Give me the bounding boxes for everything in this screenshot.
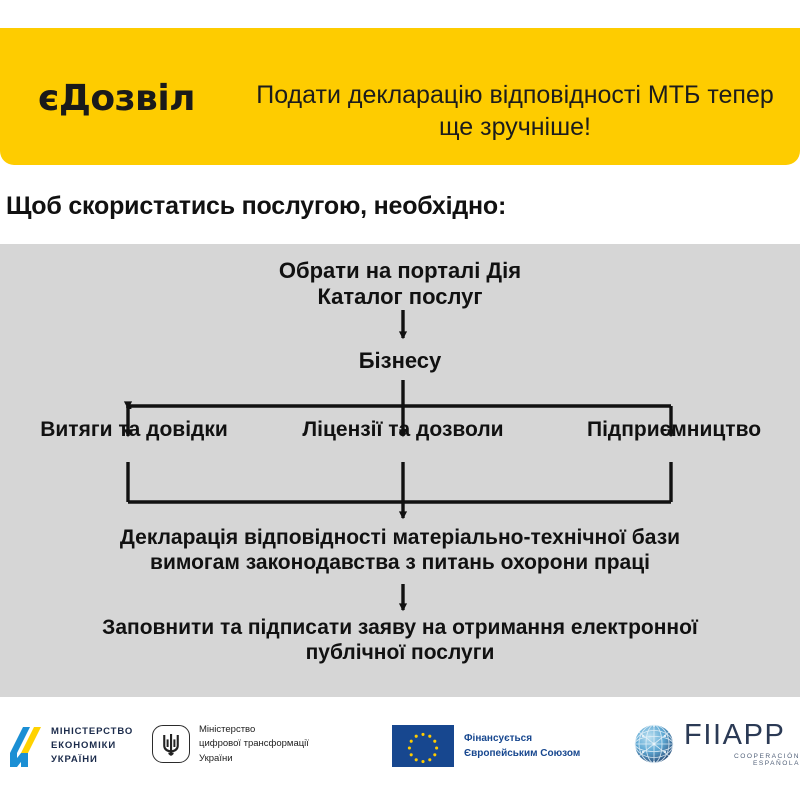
logo-fiiapp: FIIAPP COOPERACIÓN ESPAÑOLA xyxy=(632,721,800,767)
ministry-of-digital-transformation-label: Міністерство цифрової трансформації Укра… xyxy=(199,723,309,766)
globe-network-icon xyxy=(632,722,676,766)
flow-node-final-step: Заповнити та підписати заяву на отриманн… xyxy=(24,616,776,666)
flow-node-branch-licenzii: Ліцензії та дозволи xyxy=(272,418,534,443)
fiiapp-wordmark: FIIAPP COOPERACIÓN ESPAÑOLA xyxy=(684,721,800,767)
flow-node-branch-vytiahy: Витяги та довідки xyxy=(4,418,264,443)
flow-node-business: Бізнесу xyxy=(250,348,550,374)
banner-subtitle: Подати декларацію відповідності МТБ тепе… xyxy=(240,80,790,143)
header-banner: єДозвіл Подати декларацію відповідності … xyxy=(0,28,800,165)
section-heading: Щоб скористатись послугою, необхідно: xyxy=(6,192,506,221)
footer-logo-bar: МІНІСТЕРСТВО ЕКОНОМІКИ УКРАЇНИ Міністерс… xyxy=(0,697,800,800)
infographic-page: єДозвіл Подати декларацію відповідності … xyxy=(0,0,800,800)
flow-node-portal: Обрати на порталі Дія Каталог послуг xyxy=(150,258,650,310)
european-union-label: Фінансується Європейським Союзом xyxy=(464,731,580,761)
chevron-flag-logo-icon xyxy=(8,723,42,769)
tryzub-icon xyxy=(152,725,190,763)
flow-node-branch-pidpryiemnytstvo: Підприємництво xyxy=(552,418,796,443)
flowchart-panel: Обрати на порталі Дія Каталог послуг Біз… xyxy=(0,244,800,697)
logo-european-union: Фінансується Європейським Союзом xyxy=(392,725,580,767)
logo-ministry-of-digital-transformation: Міністерство цифрової трансформації Укра… xyxy=(152,723,309,766)
ministry-of-economy-label: МІНІСТЕРСТВО ЕКОНОМІКИ УКРАЇНИ xyxy=(51,725,133,766)
eu-flag-icon xyxy=(392,725,454,767)
fiiapp-name: FIIAPP xyxy=(684,721,800,750)
flow-node-declaration: Декларація відповідності матеріально-тех… xyxy=(30,526,770,576)
fiiapp-tagline: COOPERACIÓN ESPAÑOLA xyxy=(684,753,800,767)
brand-logo-edozvil: єДозвіл xyxy=(38,78,195,119)
logo-ministry-of-economy: МІНІСТЕРСТВО ЕКОНОМІКИ УКРАЇНИ xyxy=(8,723,133,769)
